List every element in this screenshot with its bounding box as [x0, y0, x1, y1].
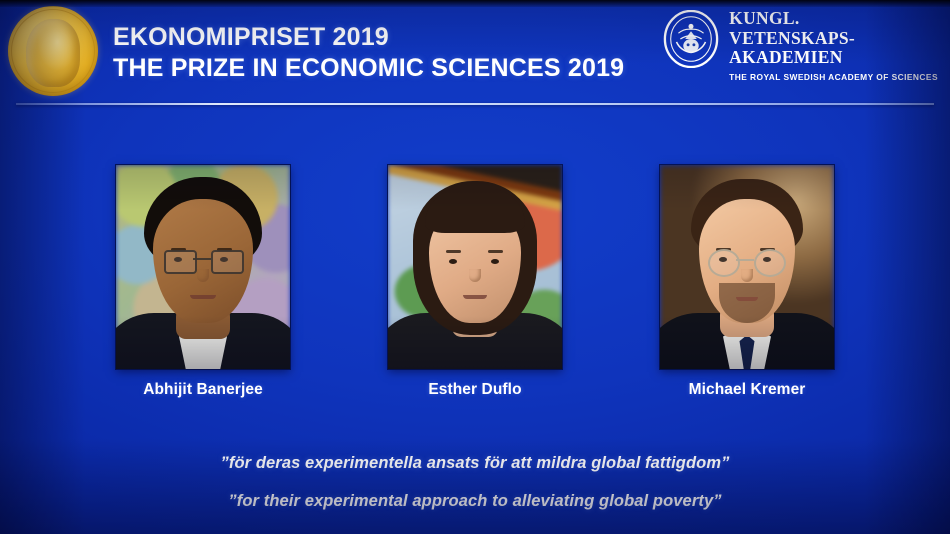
academy-name-line-1: KUNGL. — [729, 9, 938, 29]
nobel-prize-announcement-slide: EKONOMIPRISET 2019 THE PRIZE IN ECONOMIC… — [0, 0, 950, 534]
portrait-esther-duflo — [388, 165, 562, 369]
citation-swedish: ”för deras experimentella ansats för att… — [0, 444, 950, 482]
laureate-name-row: Abhijit Banerjee Esther Duflo Michael Kr… — [0, 381, 950, 399]
academy-name-line-2: VETENSKAPS- — [729, 29, 938, 49]
portrait-shading — [388, 165, 562, 369]
laureate-name-esther-duflo: Esther Duflo — [388, 381, 562, 399]
portrait-michael-kremer — [660, 165, 834, 369]
academy-wordmark: KUNGL. VETENSKAPS- AKADEMIEN THE ROYAL S… — [729, 8, 938, 82]
prize-citation: ”för deras experimentella ansats för att… — [0, 444, 950, 520]
page-title: EKONOMIPRISET 2019 THE PRIZE IN ECONOMIC… — [113, 22, 624, 84]
header: EKONOMIPRISET 2019 THE PRIZE IN ECONOMIC… — [0, 0, 950, 104]
header-divider — [16, 103, 934, 105]
portrait-shading — [116, 165, 290, 369]
laureate-name-abhijit-banerjee: Abhijit Banerjee — [116, 381, 290, 399]
title-line-swedish: EKONOMIPRISET 2019 — [113, 22, 624, 53]
academy-logo: KUNGL. VETENSKAPS- AKADEMIEN THE ROYAL S… — [662, 8, 938, 82]
academy-subtitle: THE ROYAL SWEDISH ACADEMY OF SCIENCES — [729, 72, 938, 82]
citation-english: ”for their experimental approach to alle… — [0, 482, 950, 520]
academy-seal-icon — [662, 10, 720, 68]
laureate-name-michael-kremer: Michael Kremer — [660, 381, 834, 399]
nobel-medal-icon — [8, 6, 98, 96]
academy-name-line-3: AKADEMIEN — [729, 48, 938, 68]
portrait-abhijit-banerjee — [116, 165, 290, 369]
title-line-english: THE PRIZE IN ECONOMIC SCIENCES 2019 — [113, 53, 624, 84]
portrait-shading — [660, 165, 834, 369]
medal-nobel-profile — [26, 19, 80, 87]
laureate-portrait-row — [0, 165, 950, 370]
